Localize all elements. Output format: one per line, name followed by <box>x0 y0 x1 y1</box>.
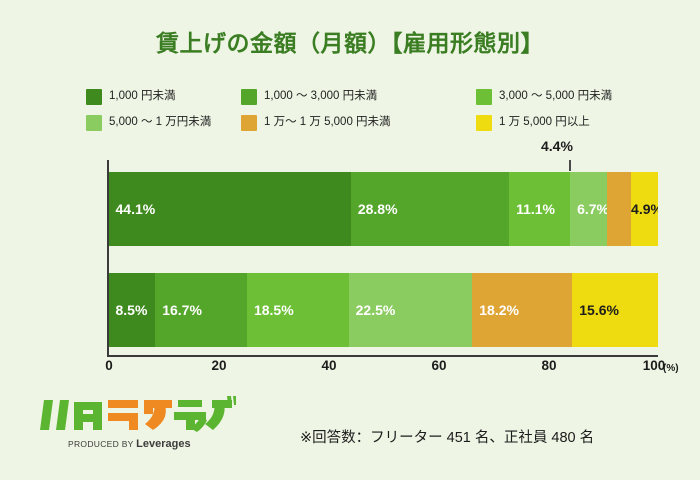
legend-item-4: 1 万〜 1 万 5,000 円未満 <box>241 115 476 131</box>
x-tick-40: 40 <box>321 358 336 373</box>
logo-subtitle: PRODUCED BY Leverages <box>68 438 191 450</box>
bar-furita-segment-3: 6.7% <box>570 172 607 246</box>
bar-furita-value-0: 44.1% <box>109 201 156 217</box>
logo-sub-prefix: PRODUCED BY <box>68 439 136 449</box>
x-tick-80: 80 <box>541 358 556 373</box>
bar-seishain-segment-3: 22.5% <box>349 273 473 347</box>
legend-label-2: 3,000 〜 5,000 円未満 <box>499 91 612 103</box>
bar-furita-segment-5: 4.9% <box>631 172 658 246</box>
hataractive-logo-icon <box>36 396 236 440</box>
legend-swatch-3 <box>86 115 102 131</box>
chart-footnote: ※回答数：フリーター 451 名、正社員 480 名 <box>300 426 594 447</box>
bar-seishain-value-1: 16.7% <box>155 302 202 318</box>
legend-swatch-4 <box>241 115 257 131</box>
legend-item-0: 1,000 円未満 <box>86 89 241 105</box>
x-tick-0: 0 <box>105 358 113 373</box>
plot-area: 4.4% フリーター 正社員 44.1% 28.8% 11.1% 6.7% 4.… <box>107 160 658 355</box>
bar-seishain-segment-1: 16.7% <box>155 273 247 347</box>
legend-label-1: 1,000 〜 3,000 円未満 <box>264 91 377 103</box>
bar-furita-value-3: 6.7% <box>570 201 607 217</box>
bar-seishain-segment-5: 15.6% <box>572 273 658 347</box>
bar-furita-value-1: 28.8% <box>351 201 398 217</box>
bar-furita-segment-4 <box>607 172 631 246</box>
brand-logo: PRODUCED BY Leverages <box>30 396 240 454</box>
bar-furita-value-2: 11.1% <box>509 201 555 217</box>
bar-seishain: 8.5% 16.7% 18.5% 22.5% 18.2% 15.6% <box>109 273 659 347</box>
legend-item-2: 3,000 〜 5,000 円未満 <box>476 89 666 105</box>
bar-furita: 44.1% 28.8% 11.1% 6.7% 4.9% <box>109 172 659 246</box>
bar-seishain-segment-0: 8.5% <box>109 273 156 347</box>
bar-seishain-segment-4: 18.2% <box>472 273 572 347</box>
x-tick-100: 100 <box>643 358 666 373</box>
chart-legend: 1,000 円未満 1,000 〜 3,000 円未満 3,000 〜 5,00… <box>86 84 666 136</box>
bar-seishain-value-3: 22.5% <box>349 302 396 318</box>
page-title: 賃上げの金額（月額）【雇用形態別】 <box>0 24 700 58</box>
legend-label-5: 1 万 5,000 円以上 <box>499 117 590 129</box>
bar-seishain-value-0: 8.5% <box>109 302 148 318</box>
bar-seishain-value-4: 18.2% <box>472 302 519 318</box>
legend-item-5: 1 万 5,000 円以上 <box>476 115 666 131</box>
legend-swatch-1 <box>241 89 257 105</box>
logo-sub-brand: Leverages <box>136 438 190 450</box>
callout-label-4-4: 4.4% <box>541 138 573 154</box>
bar-furita-value-5: 4.9% <box>631 201 658 217</box>
legend-label-3: 5,000 〜 1 万円未満 <box>109 117 211 129</box>
legend-swatch-2 <box>476 89 492 105</box>
x-axis-line <box>107 355 658 357</box>
legend-item-1: 1,000 〜 3,000 円未満 <box>241 89 476 105</box>
x-axis-unit: (%) <box>663 363 679 374</box>
bar-seishain-value-2: 18.5% <box>247 302 294 318</box>
legend-label-0: 1,000 円未満 <box>109 91 175 103</box>
legend-item-3: 5,000 〜 1 万円未満 <box>86 115 241 131</box>
x-tick-20: 20 <box>211 358 226 373</box>
legend-swatch-0 <box>86 89 102 105</box>
bar-seishain-value-5: 15.6% <box>572 302 619 318</box>
bar-seishain-segment-2: 18.5% <box>247 273 349 347</box>
x-axis-ticks: 0 20 40 60 80 100 <box>107 358 667 380</box>
bar-furita-segment-0: 44.1% <box>109 172 351 246</box>
callout-leader-line <box>569 160 571 171</box>
bar-furita-segment-1: 28.8% <box>351 172 509 246</box>
chart-container: 賃上げの金額（月額）【雇用形態別】 1,000 円未満 1,000 〜 3,00… <box>0 0 700 480</box>
bar-furita-segment-2: 11.1% <box>509 172 570 246</box>
legend-swatch-5 <box>476 115 492 131</box>
legend-label-4: 1 万〜 1 万 5,000 円未満 <box>264 117 391 129</box>
x-tick-60: 60 <box>431 358 446 373</box>
